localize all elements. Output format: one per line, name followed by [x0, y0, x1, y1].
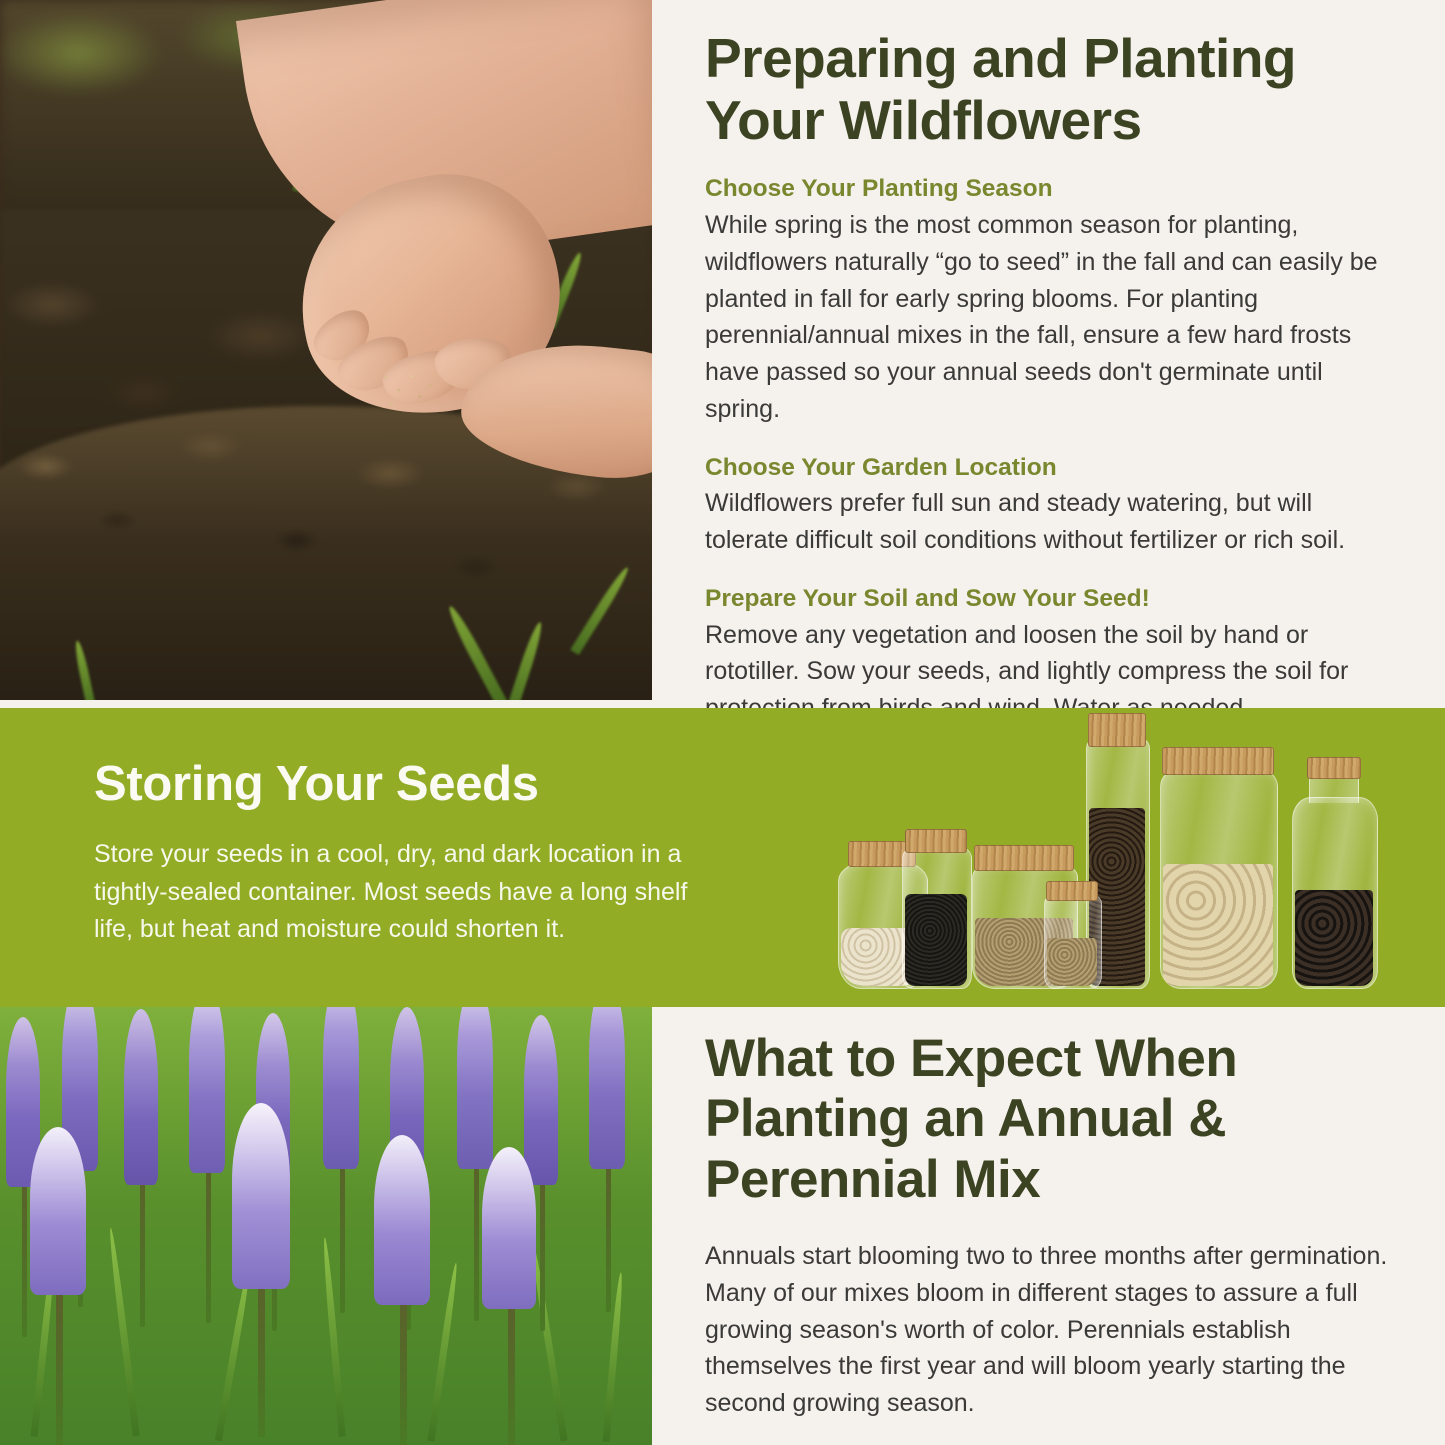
cork-lid — [974, 845, 1074, 871]
jar-contents-pumpkin-seeds — [1163, 864, 1273, 986]
cork-lid — [1162, 747, 1274, 775]
lupine-flower-spike — [482, 1147, 536, 1309]
lupine-flower-spike — [374, 1135, 430, 1305]
hands-sowing-seeds-photo — [0, 0, 652, 700]
falling-seeds — [379, 368, 437, 414]
seed-jar — [1292, 799, 1376, 989]
cork-lid — [1046, 881, 1098, 901]
cork-lid — [905, 829, 967, 853]
lupine-flower-spike — [589, 1007, 625, 1169]
section-storing-your-seeds: Storing Your Seeds Store your seeds in a… — [0, 708, 1445, 1007]
jar-contents-tan-seeds — [1047, 938, 1097, 986]
lupine-flower-spike — [30, 1127, 86, 1295]
body-storing: Store your seeds in a cool, dry, and dar… — [94, 836, 714, 949]
lupine-flower-spike — [189, 1007, 225, 1173]
infographic-page: Preparing and Planting Your Wildflowers … — [0, 0, 1445, 1445]
section-title-storing: Storing Your Seeds — [94, 756, 539, 812]
section-what-to-expect: What to Expect When Planting an Annual &… — [0, 1007, 1445, 1445]
lupine-flower-spike — [232, 1103, 290, 1289]
lupine-flower-spike — [457, 1007, 493, 1169]
jar-contents-black-seeds — [905, 894, 967, 986]
lupine-flower-spike — [524, 1015, 558, 1185]
lupine-field-photo — [0, 1007, 652, 1445]
jar-contents-sunflower-seeds — [1295, 890, 1373, 986]
subheading-planting-season: Choose Your Planting Season — [705, 173, 1395, 205]
cork-lid — [1307, 757, 1361, 779]
cork-lid — [1088, 713, 1146, 747]
seed-jar — [902, 849, 970, 989]
section-preparing-and-planting: Preparing and Planting Your Wildflowers … — [0, 0, 1445, 708]
lupine-flower-spike — [323, 1007, 359, 1169]
section-title-what-to-expect: What to Expect When Planting an Annual &… — [705, 1029, 1395, 1210]
seed-jar — [1160, 771, 1276, 989]
subheading-prepare-soil: Prepare Your Soil and Sow Your Seed! — [705, 583, 1395, 615]
body-garden-location: Wildflowers prefer full sun and steady w… — [705, 485, 1395, 559]
page-title-preparing: Preparing and Planting Your Wildflowers — [705, 28, 1395, 151]
body-planting-season: While spring is the most common season f… — [705, 207, 1395, 428]
subheading-garden-location: Choose Your Garden Location — [705, 452, 1395, 484]
expect-text-column: What to Expect When Planting an Annual &… — [705, 1029, 1395, 1422]
lupine-flower-spike — [124, 1009, 158, 1185]
body-what-to-expect: Annuals start blooming two to three mont… — [705, 1238, 1395, 1422]
seed-jars-photo — [830, 716, 1430, 1007]
seed-jar — [1044, 897, 1100, 989]
preparing-text-column: Preparing and Planting Your Wildflowers … — [705, 28, 1395, 727]
